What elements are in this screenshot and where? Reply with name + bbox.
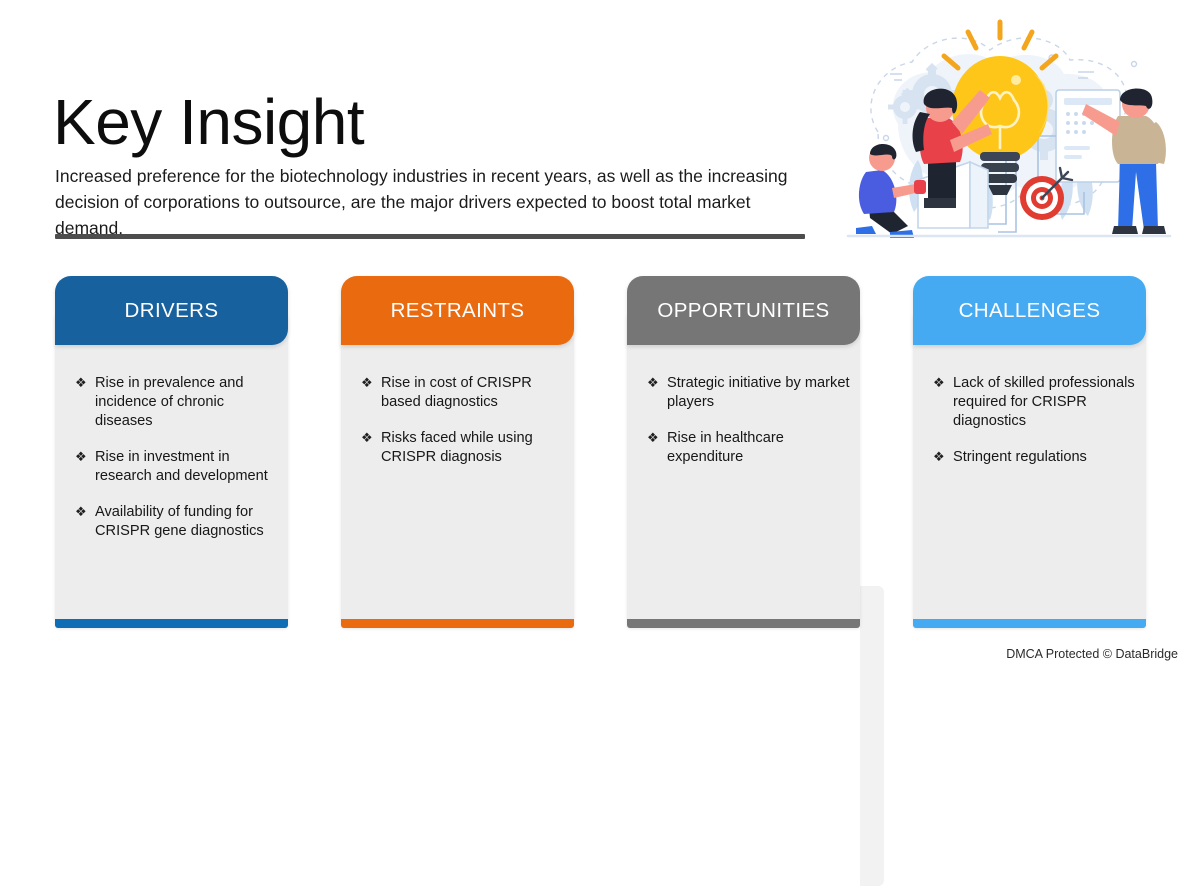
card-drivers-header[interactable]: DRIVERS [55, 276, 288, 345]
diamond-bullet-icon: ❖ [647, 428, 659, 448]
list-item: ❖Rise in healthcare expenditure [645, 429, 852, 467]
card-restraints-label: RESTRAINTS [391, 299, 525, 323]
diamond-bullet-icon: ❖ [361, 428, 373, 448]
whiteboard [1056, 90, 1120, 182]
card-drivers-list: ❖Rise in prevalence and incidence of chr… [55, 374, 288, 558]
card-challenges[interactable]: CHALLENGES ❖Lack of skilled professional… [913, 276, 1146, 642]
list-item-text: Rise in prevalence and incidence of chro… [95, 375, 243, 429]
card-restraints[interactable]: RESTRAINTS ❖Rise in cost of CRISPR based… [341, 276, 574, 642]
card-opportunities-list: ❖Strategic initiative by market players … [627, 374, 860, 484]
footer-copyright: DMCA Protected © DataBridge [1006, 647, 1178, 661]
card-opportunities-accent-bar [627, 619, 860, 628]
list-item-text: Rise in investment in research and devel… [95, 449, 268, 484]
card-challenges-accent-bar [913, 619, 1146, 628]
diamond-bullet-icon: ❖ [933, 373, 945, 393]
list-item: ❖Rise in investment in research and deve… [73, 448, 276, 486]
insight-cards: DRIVERS ❖Rise in prevalence and incidenc… [0, 276, 1200, 646]
card-drivers-accent-bar [55, 619, 288, 628]
card-opportunities-header[interactable]: OPPORTUNITIES [627, 276, 860, 345]
list-item: ❖Risks faced while using CRISPR diagnosi… [359, 429, 562, 467]
card-restraints-accent-bar [341, 619, 574, 628]
list-item: ❖Stringent regulations [931, 448, 1138, 467]
card-challenges-header[interactable]: CHALLENGES [913, 276, 1146, 345]
diamond-bullet-icon: ❖ [361, 373, 373, 393]
list-item-text: Rise in cost of CRISPR based diagnostics [381, 375, 532, 410]
list-item-text: Stringent regulations [953, 449, 1087, 465]
list-item-text: Rise in healthcare expenditure [667, 430, 784, 465]
diamond-bullet-icon: ❖ [933, 447, 945, 467]
list-item-text: Availability of funding for CRISPR gene … [95, 504, 264, 539]
list-item: ❖Availability of funding for CRISPR gene… [73, 503, 276, 541]
list-item: ❖Rise in cost of CRISPR based diagnostic… [359, 374, 562, 412]
ghost-panel [860, 586, 884, 886]
list-item: ❖Strategic initiative by market players [645, 374, 852, 412]
title-divider [55, 234, 805, 239]
list-item-text: Risks faced while using CRISPR diagnosis [381, 430, 533, 465]
diamond-bullet-icon: ❖ [75, 502, 87, 522]
card-challenges-list: ❖Lack of skilled professionals required … [913, 374, 1146, 484]
card-opportunities[interactable]: OPPORTUNITIES ❖Strategic initiative by m… [627, 276, 860, 642]
list-item-text: Strategic initiative by market players [667, 375, 850, 410]
card-restraints-header[interactable]: RESTRAINTS [341, 276, 574, 345]
list-item: ❖Lack of skilled professionals required … [931, 374, 1138, 431]
page-title: Key Insight [53, 87, 364, 157]
idea-teamwork-illustration [820, 12, 1188, 252]
list-item-text: Lack of skilled professionals required f… [953, 375, 1135, 429]
diamond-bullet-icon: ❖ [75, 373, 87, 393]
slide-root: Key Insight Increased preference for the… [0, 0, 1200, 675]
diamond-bullet-icon: ❖ [75, 447, 87, 467]
card-restraints-list: ❖Rise in cost of CRISPR based diagnostic… [341, 374, 574, 484]
card-drivers-label: DRIVERS [125, 299, 219, 323]
diamond-bullet-icon: ❖ [647, 373, 659, 393]
card-challenges-label: CHALLENGES [959, 299, 1101, 323]
card-opportunities-label: OPPORTUNITIES [657, 299, 829, 323]
subtitle-text: Increased preference for the biotechnolo… [55, 163, 810, 241]
card-drivers[interactable]: DRIVERS ❖Rise in prevalence and incidenc… [55, 276, 288, 642]
list-item: ❖Rise in prevalence and incidence of chr… [73, 374, 276, 431]
